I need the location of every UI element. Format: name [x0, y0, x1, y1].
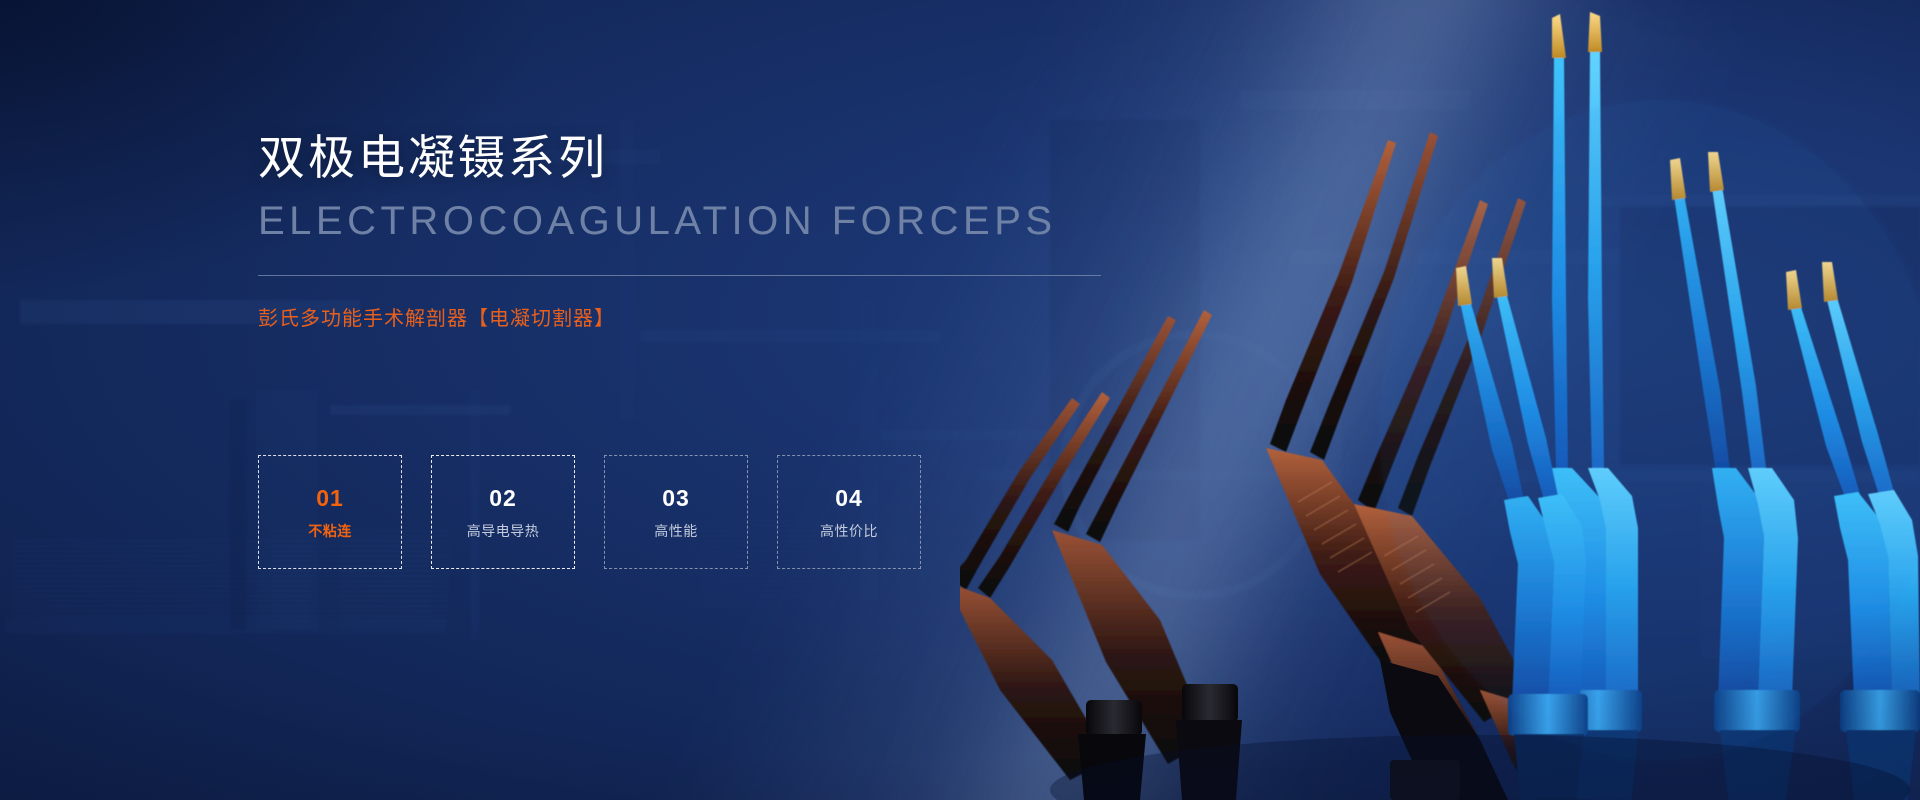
- feature-box-01[interactable]: 01 不粘连: [258, 455, 402, 569]
- feature-list: 01 不粘连 02 高导电导热 03 高性能 04 高性价比: [258, 455, 921, 569]
- feature-label: 高性能: [654, 524, 698, 538]
- feature-box-04[interactable]: 04 高性价比: [777, 455, 921, 569]
- feature-number: 01: [316, 487, 344, 510]
- page-title: 双极电凝镊系列: [258, 130, 1098, 185]
- feature-number: 02: [489, 487, 517, 510]
- banner-text-block: 双极电凝镊系列 ELECTROCOAGULATION FORCEPS 彭氏多功能…: [258, 130, 1098, 331]
- feature-number: 03: [662, 487, 690, 510]
- page-subtitle-en: ELECTROCOAGULATION FORCEPS: [258, 199, 1098, 243]
- product-tagline: 彭氏多功能手术解剖器【电凝切割器】: [258, 302, 1098, 331]
- feature-number: 04: [835, 487, 863, 510]
- feature-label: 高性价比: [820, 524, 878, 538]
- feature-label: 高导电导热: [467, 524, 540, 538]
- feature-label: 不粘连: [308, 524, 352, 538]
- feature-box-02[interactable]: 02 高导电导热: [431, 455, 575, 569]
- promo-banner: 双极电凝镊系列 ELECTROCOAGULATION FORCEPS 彭氏多功能…: [0, 0, 1920, 800]
- feature-box-03[interactable]: 03 高性能: [604, 455, 748, 569]
- divider: [258, 275, 1101, 276]
- forceps-artwork: [960, 0, 1920, 800]
